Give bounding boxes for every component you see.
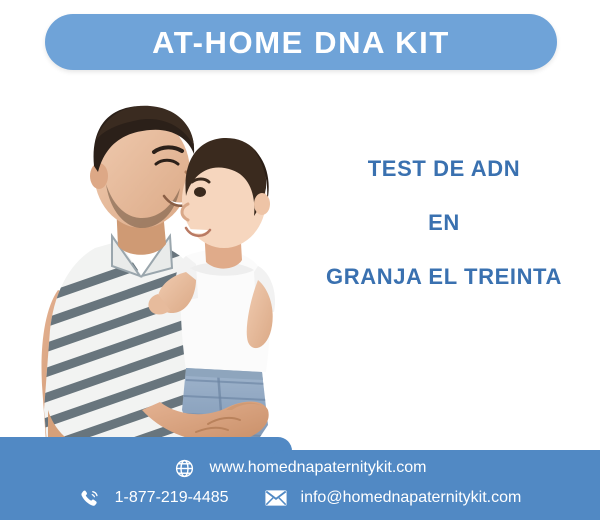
father-holding-toddler-photo (0, 80, 330, 455)
phone-text: 1-877-219-4485 (115, 490, 229, 506)
footer-row-website: www.homednapaternitykit.com (0, 457, 600, 479)
footer-bar: www.homednapaternitykit.com 1-877-219-44… (0, 437, 600, 520)
website-item[interactable]: www.homednapaternitykit.com (174, 457, 427, 479)
headline-line-2: EN (300, 212, 588, 234)
poster: AT-HOME DNA KIT (0, 0, 600, 520)
headline-line-1: TEST DE ADN (300, 158, 588, 180)
header-banner: AT-HOME DNA KIT (45, 14, 557, 70)
footer-contact-rows: www.homednapaternitykit.com 1-877-219-44… (0, 437, 600, 520)
email-item[interactable]: info@homednapaternitykit.com (265, 487, 522, 509)
page-title: AT-HOME DNA KIT (152, 27, 450, 58)
footer-row-phone-email: 1-877-219-4485 info@homednapaternitykit.… (0, 487, 600, 509)
headline-line-3: GRANJA EL TREINTA (300, 266, 588, 288)
email-text: info@homednapaternitykit.com (301, 490, 522, 506)
headline-block: TEST DE ADN EN GRANJA EL TREINTA (300, 158, 588, 288)
globe-icon (174, 457, 196, 479)
website-text: www.homednapaternitykit.com (210, 460, 427, 476)
envelope-icon (265, 487, 287, 509)
phone-item[interactable]: 1-877-219-4485 (79, 487, 229, 509)
phone-icon (79, 487, 101, 509)
